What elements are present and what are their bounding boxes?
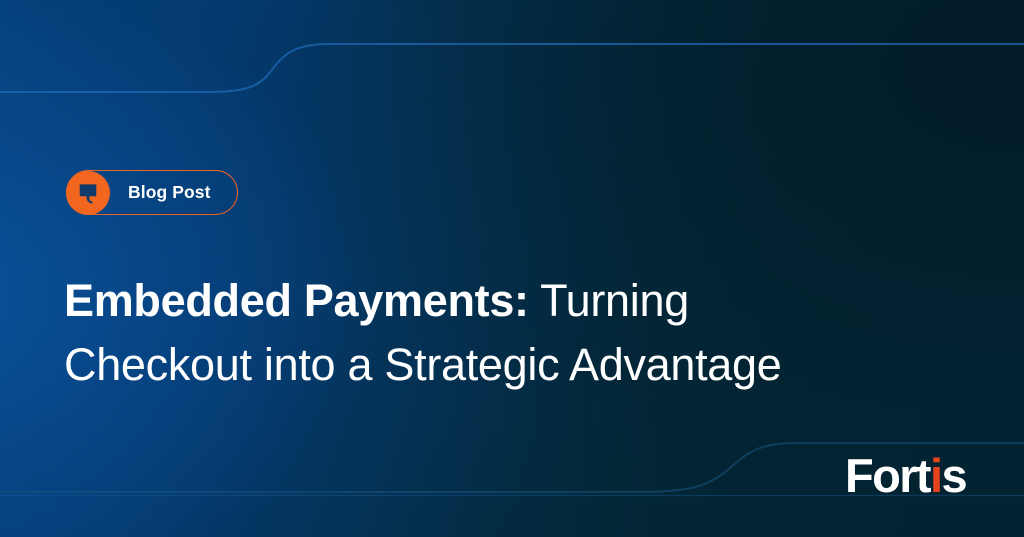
fortis-wordmark-logo: Fortis xyxy=(845,452,966,499)
page-title: Embedded Payments: Turning Checkout into… xyxy=(64,269,984,397)
badge-label: Blog Post xyxy=(128,182,211,203)
logo-accent-letter: i xyxy=(930,452,941,499)
logo-suffix: s xyxy=(941,452,966,499)
social-card-canvas: Blog Post Embedded Payments: Turning Che… xyxy=(0,0,1024,537)
headline-emphasis: Embedded Payments: xyxy=(64,275,529,326)
logo-prefix: Fort xyxy=(845,452,930,499)
fortis-mark-icon xyxy=(66,171,110,215)
blog-post-badge[interactable]: Blog Post xyxy=(66,170,238,215)
